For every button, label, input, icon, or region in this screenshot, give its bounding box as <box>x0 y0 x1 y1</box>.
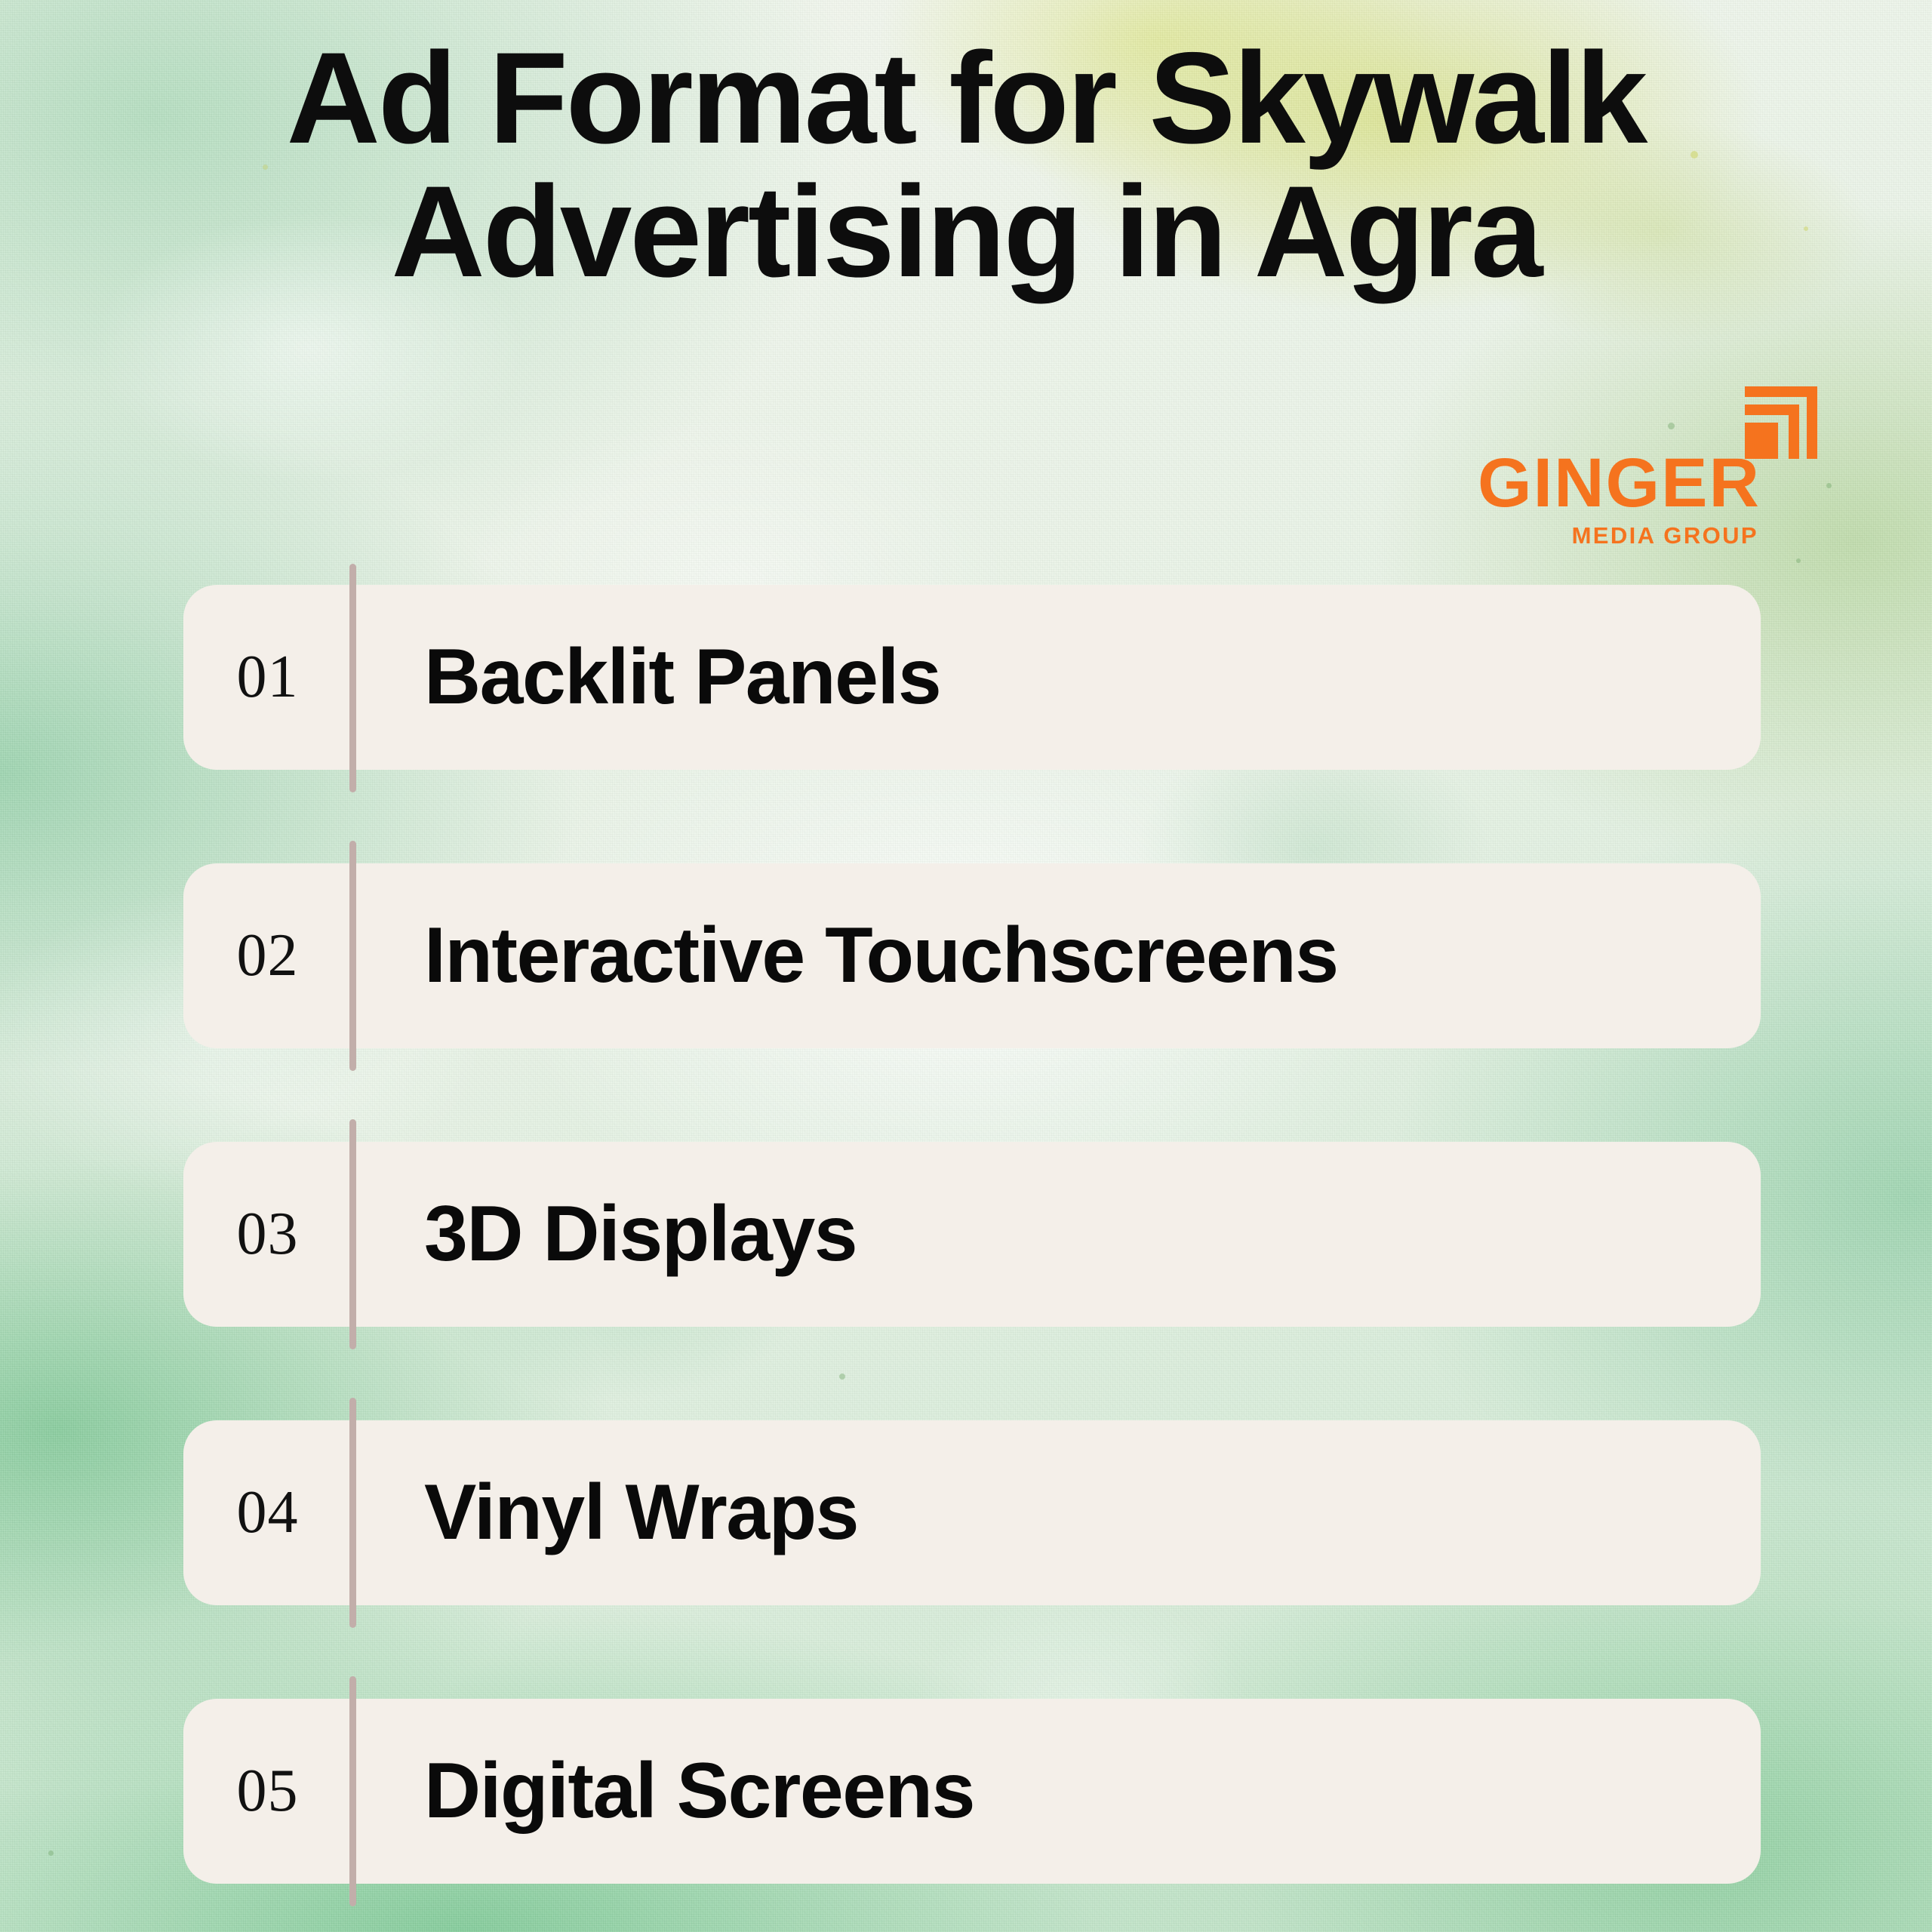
list-item-number: 05 <box>183 1757 352 1826</box>
list-item-divider <box>349 1119 356 1349</box>
paint-speck <box>48 1850 54 1856</box>
list-item-label: Backlit Panels <box>352 632 1761 722</box>
list-item-label: Digital Screens <box>352 1746 1761 1836</box>
list-item-number: 01 <box>183 643 352 712</box>
list-item-label: 3D Displays <box>352 1189 1761 1279</box>
brand-logo-wordmark: GINGER <box>1478 448 1749 518</box>
list-item[interactable]: 02 Interactive Touchscreens <box>183 863 1761 1048</box>
list-item[interactable]: 04 Vinyl Wraps <box>183 1420 1761 1605</box>
list-item-number: 02 <box>183 921 352 990</box>
paint-speck <box>1796 558 1801 563</box>
list-item[interactable]: 01 Backlit Panels <box>183 585 1761 770</box>
brand-logo-tagline: MEDIA GROUP <box>1478 524 1758 547</box>
list-item-divider <box>349 564 356 792</box>
page-title-line-2: Advertising in Agra <box>83 165 1849 299</box>
list-item-divider <box>349 841 356 1071</box>
brand-logo: GINGER MEDIA GROUP <box>1478 386 1817 537</box>
ad-format-list: 01 Backlit Panels 02 Interactive Touchsc… <box>183 585 1761 1884</box>
page-title: Ad Format for Skywalk Advertising in Agr… <box>0 32 1932 299</box>
list-item-number: 03 <box>183 1200 352 1269</box>
list-item-divider <box>349 1676 356 1906</box>
list-item-label: Vinyl Wraps <box>352 1468 1761 1558</box>
list-item-number: 04 <box>183 1478 352 1547</box>
poster-canvas: Ad Format for Skywalk Advertising in Agr… <box>0 0 1932 1932</box>
list-item-label: Interactive Touchscreens <box>352 911 1761 1001</box>
paint-speck <box>1826 483 1832 488</box>
page-title-line-1: Ad Format for Skywalk <box>83 32 1849 165</box>
list-item[interactable]: 03 3D Displays <box>183 1142 1761 1327</box>
list-item[interactable]: 05 Digital Screens <box>183 1699 1761 1884</box>
list-item-divider <box>349 1398 356 1628</box>
